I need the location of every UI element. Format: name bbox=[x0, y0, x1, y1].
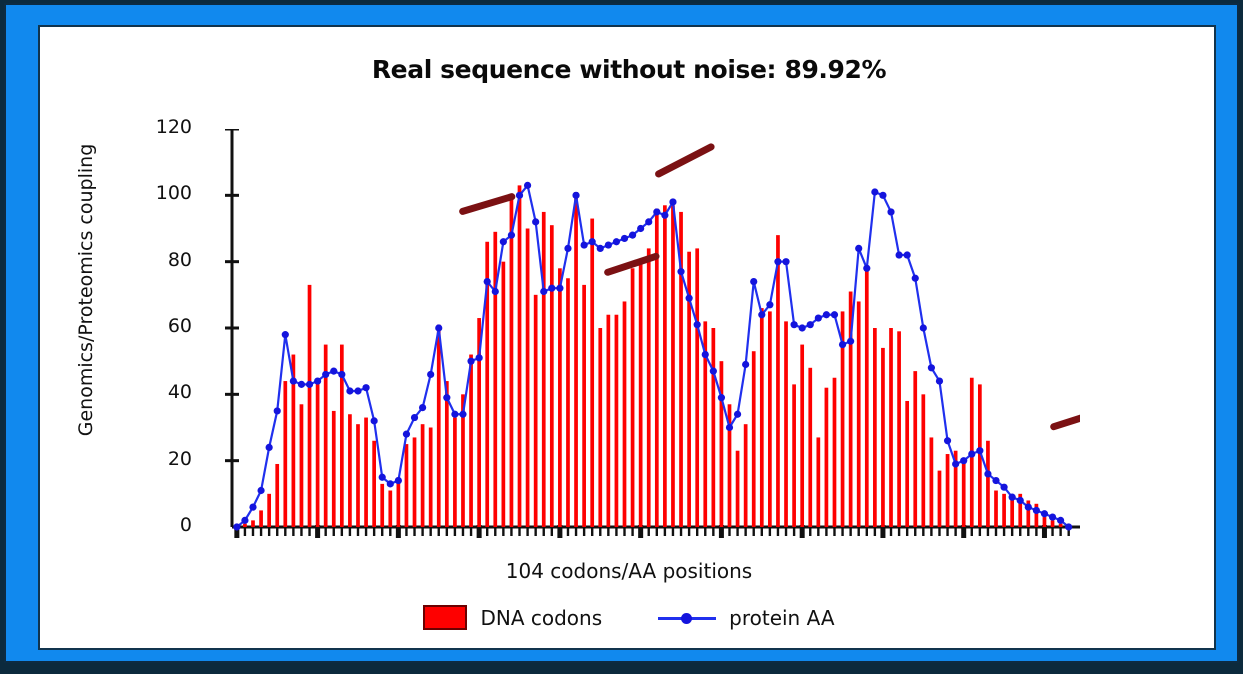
bar bbox=[873, 328, 877, 527]
bar bbox=[913, 371, 917, 527]
data-point-marker bbox=[952, 460, 959, 467]
data-point-marker bbox=[548, 285, 555, 292]
bar bbox=[833, 378, 837, 527]
data-point-marker bbox=[1065, 523, 1072, 530]
bar bbox=[930, 437, 934, 527]
bar bbox=[397, 477, 401, 527]
bar bbox=[380, 484, 384, 527]
bar bbox=[275, 464, 279, 527]
data-point-marker bbox=[936, 377, 943, 384]
trend-line-annotation bbox=[463, 197, 512, 212]
data-point-marker bbox=[419, 404, 426, 411]
bar bbox=[283, 381, 287, 527]
bar bbox=[251, 520, 255, 527]
data-point-marker bbox=[314, 377, 321, 384]
bar bbox=[1059, 524, 1063, 527]
data-point-marker bbox=[774, 258, 781, 265]
y-tick-label-60: 60 bbox=[122, 315, 192, 337]
bar bbox=[259, 510, 263, 527]
y-tick-label-40: 40 bbox=[122, 381, 192, 403]
legend-item-protein-aa: protein AA bbox=[658, 606, 834, 630]
data-point-marker bbox=[572, 192, 579, 199]
bar bbox=[897, 331, 901, 527]
bar bbox=[453, 418, 457, 527]
data-point-marker bbox=[371, 417, 378, 424]
data-point-marker bbox=[581, 241, 588, 248]
data-point-marker bbox=[984, 470, 991, 477]
bar bbox=[308, 285, 312, 527]
data-point-marker bbox=[791, 321, 798, 328]
y-tick-label-0: 0 bbox=[122, 514, 192, 536]
data-point-marker bbox=[669, 198, 676, 205]
bar bbox=[1043, 517, 1047, 527]
data-point-marker bbox=[1041, 510, 1048, 517]
bar bbox=[316, 381, 320, 527]
bar bbox=[857, 301, 861, 527]
bar bbox=[534, 295, 538, 527]
bar bbox=[623, 301, 627, 527]
axes-group bbox=[225, 129, 1080, 538]
bar bbox=[784, 321, 788, 527]
bar bbox=[300, 404, 304, 527]
data-point-marker bbox=[233, 523, 240, 530]
data-point-marker bbox=[831, 311, 838, 318]
bar bbox=[816, 437, 820, 527]
bar bbox=[598, 328, 602, 527]
data-point-marker bbox=[322, 371, 329, 378]
data-point-marker bbox=[451, 411, 458, 418]
bar bbox=[631, 268, 635, 527]
bar bbox=[1010, 497, 1014, 527]
data-point-marker bbox=[532, 218, 539, 225]
bar bbox=[615, 315, 619, 527]
data-point-marker bbox=[613, 238, 620, 245]
bar bbox=[510, 199, 514, 527]
data-point-marker bbox=[1009, 494, 1016, 501]
data-point-marker bbox=[1049, 513, 1056, 520]
data-point-marker bbox=[306, 381, 313, 388]
data-point-marker bbox=[274, 407, 281, 414]
data-point-marker bbox=[653, 208, 660, 215]
data-point-marker bbox=[726, 424, 733, 431]
bar bbox=[558, 268, 562, 527]
data-point-marker bbox=[459, 411, 466, 418]
data-point-marker bbox=[379, 474, 386, 481]
data-point-marker bbox=[734, 411, 741, 418]
data-point-marker bbox=[241, 517, 248, 524]
data-point-marker bbox=[362, 384, 369, 391]
bar bbox=[566, 278, 570, 527]
bar bbox=[356, 424, 360, 527]
bar bbox=[711, 328, 715, 527]
bar bbox=[776, 235, 780, 527]
red-square-swatch-icon bbox=[423, 605, 467, 630]
bar bbox=[994, 491, 998, 527]
data-point-marker bbox=[1025, 504, 1032, 511]
data-point-marker bbox=[629, 232, 636, 239]
figure-frame: Real sequence without noise: 89.92% Geno… bbox=[0, 0, 1243, 674]
bar bbox=[663, 205, 667, 527]
bar bbox=[800, 345, 804, 527]
data-point-marker bbox=[556, 285, 563, 292]
y-tick-label-120: 120 bbox=[122, 116, 192, 138]
data-point-marker bbox=[782, 258, 789, 265]
data-point-marker bbox=[395, 477, 402, 484]
data-point-marker bbox=[677, 268, 684, 275]
data-point-marker bbox=[589, 238, 596, 245]
data-point-marker bbox=[912, 275, 919, 282]
chart-canvas: Real sequence without noise: 89.92% Geno… bbox=[38, 25, 1216, 650]
legend-label-dna-codons: DNA codons bbox=[480, 606, 602, 630]
data-point-marker bbox=[476, 354, 483, 361]
data-point-marker bbox=[1033, 507, 1040, 514]
bar bbox=[986, 441, 990, 527]
legend-item-dna-codons: DNA codons bbox=[423, 605, 602, 630]
data-point-marker bbox=[928, 364, 935, 371]
data-point-marker bbox=[346, 387, 353, 394]
data-point-marker bbox=[887, 208, 894, 215]
trend-line-annotation bbox=[659, 147, 712, 174]
data-point-marker bbox=[435, 324, 442, 331]
data-point-marker bbox=[443, 394, 450, 401]
bar bbox=[808, 368, 812, 527]
data-point-marker bbox=[968, 450, 975, 457]
bar bbox=[493, 232, 497, 527]
bar bbox=[574, 192, 578, 527]
bar bbox=[720, 361, 724, 527]
plot-area bbox=[200, 129, 1080, 549]
bar bbox=[437, 325, 441, 527]
bar bbox=[760, 308, 764, 527]
bar bbox=[889, 328, 893, 527]
data-point-marker bbox=[282, 331, 289, 338]
data-point-marker bbox=[492, 288, 499, 295]
data-point-marker bbox=[871, 188, 878, 195]
x-axis-label: 104 codons/AA positions bbox=[40, 559, 1218, 583]
legend-label-protein-aa: protein AA bbox=[729, 606, 834, 630]
bar bbox=[962, 461, 966, 527]
bar bbox=[348, 414, 352, 527]
data-point-marker bbox=[387, 480, 394, 487]
bar bbox=[590, 219, 594, 527]
bar bbox=[792, 384, 796, 527]
data-point-marker bbox=[702, 351, 709, 358]
data-point-marker bbox=[516, 192, 523, 199]
bar bbox=[938, 471, 942, 527]
data-point-marker bbox=[694, 321, 701, 328]
y-axis-label: Genomics/Proteomics coupling bbox=[75, 90, 97, 490]
data-point-marker bbox=[1057, 517, 1064, 524]
data-point-marker bbox=[879, 192, 886, 199]
data-point-marker bbox=[976, 447, 983, 454]
protein-aa-polyline bbox=[237, 185, 1069, 527]
bar bbox=[332, 411, 336, 527]
page-title: Real sequence without noise: 89.92% bbox=[40, 55, 1218, 84]
bar bbox=[388, 491, 392, 527]
bar bbox=[364, 418, 368, 527]
data-point-marker bbox=[257, 487, 264, 494]
bar bbox=[865, 265, 869, 527]
bar bbox=[542, 212, 546, 527]
bar bbox=[1051, 520, 1055, 527]
data-point-marker bbox=[904, 251, 911, 258]
data-point-marker bbox=[839, 341, 846, 348]
plot-svg bbox=[200, 129, 1080, 549]
data-point-marker bbox=[597, 245, 604, 252]
bars-series-dna-codons bbox=[243, 185, 1062, 527]
bar bbox=[647, 248, 651, 527]
bar bbox=[752, 351, 756, 527]
bar bbox=[921, 394, 925, 527]
data-point-marker bbox=[411, 414, 418, 421]
data-point-marker bbox=[718, 394, 725, 401]
data-point-marker bbox=[290, 377, 297, 384]
bar bbox=[606, 315, 610, 527]
y-tick-label-80: 80 bbox=[122, 249, 192, 271]
bar bbox=[639, 262, 643, 527]
bar bbox=[445, 381, 449, 527]
data-point-marker bbox=[266, 444, 273, 451]
data-point-marker bbox=[605, 241, 612, 248]
chart-legend: DNA codons protein AA bbox=[40, 605, 1218, 630]
data-point-marker bbox=[249, 504, 256, 511]
bar bbox=[695, 248, 699, 527]
bar bbox=[526, 229, 530, 528]
bar bbox=[405, 444, 409, 527]
data-point-marker bbox=[799, 324, 806, 331]
data-point-marker bbox=[637, 225, 644, 232]
data-point-marker bbox=[298, 381, 305, 388]
data-point-marker bbox=[540, 288, 547, 295]
data-point-marker bbox=[807, 321, 814, 328]
blue-line-marker-icon bbox=[658, 611, 716, 625]
y-tick-label-100: 100 bbox=[122, 182, 192, 204]
data-point-marker bbox=[855, 245, 862, 252]
data-point-marker bbox=[742, 361, 749, 368]
data-point-marker bbox=[427, 371, 434, 378]
figure-blue-mat: Real sequence without noise: 89.92% Geno… bbox=[4, 3, 1239, 663]
data-point-marker bbox=[992, 477, 999, 484]
data-point-marker bbox=[403, 431, 410, 438]
data-point-marker bbox=[823, 311, 830, 318]
data-point-marker bbox=[508, 232, 515, 239]
data-point-marker bbox=[960, 457, 967, 464]
data-point-marker bbox=[758, 311, 765, 318]
data-point-marker bbox=[686, 295, 693, 302]
data-point-marker bbox=[354, 387, 361, 394]
data-point-marker bbox=[661, 212, 668, 219]
data-point-marker bbox=[750, 278, 757, 285]
bar bbox=[946, 454, 950, 527]
data-point-marker bbox=[710, 368, 717, 375]
bar bbox=[905, 401, 909, 527]
data-point-marker bbox=[524, 182, 531, 189]
data-point-marker bbox=[1017, 497, 1024, 504]
data-point-marker bbox=[895, 251, 902, 258]
bar bbox=[744, 424, 748, 527]
data-point-marker bbox=[500, 238, 507, 245]
data-point-marker bbox=[330, 368, 337, 375]
data-point-marker bbox=[621, 235, 628, 242]
data-point-marker bbox=[847, 338, 854, 345]
bar bbox=[421, 424, 425, 527]
bar bbox=[825, 388, 829, 527]
data-point-marker bbox=[766, 301, 773, 308]
data-point-marker bbox=[1000, 484, 1007, 491]
bar bbox=[518, 185, 522, 527]
bar bbox=[582, 285, 586, 527]
bar bbox=[502, 262, 506, 527]
bar bbox=[1002, 494, 1006, 527]
data-point-marker bbox=[645, 218, 652, 225]
trend-line-annotation bbox=[1054, 412, 1080, 426]
data-point-marker bbox=[467, 358, 474, 365]
bar bbox=[243, 524, 247, 527]
bar bbox=[372, 441, 376, 527]
bar bbox=[550, 225, 554, 527]
bar bbox=[429, 428, 433, 528]
data-point-marker bbox=[484, 278, 491, 285]
bar bbox=[267, 494, 271, 527]
data-point-marker bbox=[944, 437, 951, 444]
data-point-marker bbox=[564, 245, 571, 252]
bar bbox=[768, 311, 772, 527]
data-point-marker bbox=[815, 314, 822, 321]
bar bbox=[413, 437, 417, 527]
bar bbox=[671, 205, 675, 527]
bar bbox=[469, 355, 473, 527]
data-point-marker bbox=[863, 265, 870, 272]
bar bbox=[736, 451, 740, 527]
data-point-marker bbox=[920, 324, 927, 331]
legend-marker-dot bbox=[681, 613, 692, 624]
bar bbox=[881, 348, 885, 527]
data-point-marker bbox=[338, 371, 345, 378]
y-tick-label-20: 20 bbox=[122, 448, 192, 470]
